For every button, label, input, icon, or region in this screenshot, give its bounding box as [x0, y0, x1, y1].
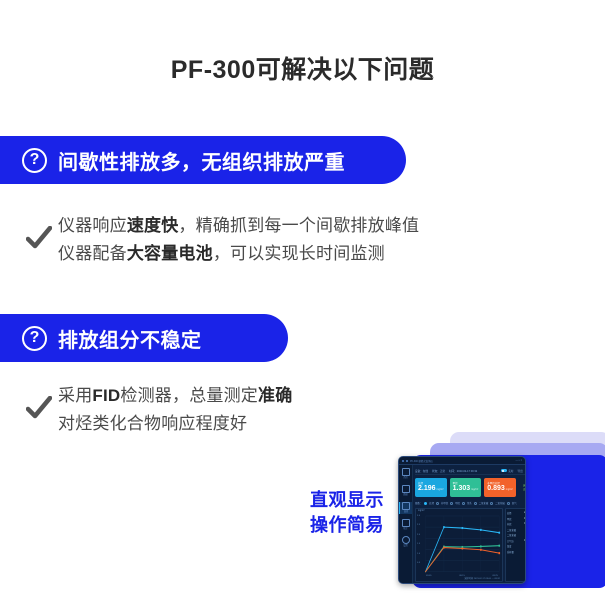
radio-option-6-label[interactable]: 氧气 [512, 501, 517, 505]
export-button[interactable]: 导出 [518, 469, 523, 473]
card-nmhc[interactable]: 非甲烷总烃 0.893mg/m³ [484, 478, 516, 497]
radio-option-1-dot[interactable] [436, 502, 439, 505]
param-value: 23.5 [525, 545, 526, 547]
callout-line-1: 直观显示 [310, 488, 384, 513]
list-item: 二氧化碳1.42 [507, 528, 526, 532]
param-value: 101.3 [524, 540, 526, 542]
card-unit: mg/m³ [471, 488, 478, 491]
topbar-device-status: 设备：在线 [415, 469, 428, 473]
radio-option-2-label[interactable]: 甲烷 [455, 501, 460, 505]
device-main: 设备：在线 状态：正常 时间：2023-02-17 09:32 实时 导出 设置… [413, 465, 526, 584]
radio-option-0-dot[interactable] [424, 502, 427, 505]
device-sidebar: 首页 数据 曲线 统计 [399, 465, 413, 584]
param-name: 二氧化碳 [507, 528, 516, 532]
chart-footer-label: 采样时间 2023-02-17 09:00 — 09:32 [464, 576, 500, 580]
radio-option-1-label[interactable]: 非甲烷 [441, 501, 448, 505]
card-value: 1.303mg/m³ [453, 485, 479, 494]
parameter-radio-row[interactable]: 参数： 总烃 非甲烷 甲烷 苯系 二氧化碳 二氧化硫 [415, 500, 526, 506]
list-item: 非烷0.893 [507, 522, 526, 526]
param-name: 采样量 [507, 550, 514, 554]
y-tick: 2.5 [417, 524, 420, 527]
card-value: 0.893mg/m³ [487, 485, 513, 494]
sidebar-item-stats-label: 统计 [403, 528, 407, 531]
list-item: 采样量0.5 [507, 550, 526, 554]
radio-option-6-dot[interactable] [507, 502, 510, 505]
solution-block-2: 采用FID检测器，总量测定准确 对烃类化合物响应程度好 [26, 382, 292, 438]
param-name: 非烷 [507, 522, 512, 526]
solution-1-lines: 仪器响应速度快，精确抓到每一个间歇排放峰值 仪器配备大容量电池，可以实现长时间监… [58, 212, 419, 268]
list-item: 总烃2.196 [507, 511, 526, 515]
sidebar-item-home[interactable]: 首页 [400, 468, 412, 480]
problem-banner-2-label: 排放组分不稳定 [58, 324, 202, 353]
toggle-switch-icon [501, 469, 507, 472]
gear-icon [402, 536, 410, 544]
radio-row-label: 参数： [415, 501, 422, 505]
realtime-toggle[interactable]: 实时 [501, 469, 513, 473]
device-body: 首页 数据 曲线 统计 [399, 465, 525, 584]
callout-text: 直观显示 操作简易 [310, 488, 384, 538]
radio-option-4-dot[interactable] [474, 502, 477, 505]
home-icon [402, 468, 410, 476]
sidebar-item-curve[interactable]: 曲线 [399, 502, 412, 514]
question-mark-icon: ? [22, 148, 47, 173]
param-value: 0.893 [524, 523, 526, 525]
radio-option-5-label[interactable]: 二氧化硫 [495, 501, 505, 505]
param-value: 2.196 [524, 512, 526, 514]
promo-page: PF-300可解决以下问题 ? 间歇性排放多，无组织排放严重 仪器响应速度快，精… [0, 0, 605, 605]
solution-2-lines: 采用FID检测器，总量测定准确 对烃类化合物响应程度好 [58, 382, 292, 438]
list-item: 甲烷1.303 [507, 517, 526, 521]
card-value: 2.196mg/m³ [418, 485, 444, 494]
chart-icon [402, 502, 410, 510]
radio-option-0-label[interactable]: 总烃 [429, 501, 434, 505]
y-tick: 1.5 [417, 543, 420, 546]
question-mark-icon: ? [22, 326, 47, 351]
titlebar-dot [402, 460, 404, 462]
problem-banner-2[interactable]: ? 排放组分不稳定 [0, 314, 288, 362]
radio-option-2-dot[interactable] [450, 502, 453, 505]
titlebar-dot [406, 460, 408, 462]
x-tick: 09:05 [426, 575, 431, 577]
param-value: 1.303 [524, 518, 526, 520]
check-icon [26, 226, 52, 260]
device-screenshot[interactable]: PF-300 便携式监测仪 — □ × 首页 数据 [398, 456, 526, 584]
list-item: 温度23.5 [507, 544, 526, 548]
param-name: 温度 [507, 544, 512, 548]
solution-1-line-1: 仪器响应速度快，精确抓到每一个间歇排放峰值 [58, 212, 419, 240]
solution-2-line-1: 采用FID检测器，总量测定准确 [58, 382, 292, 410]
list-item: 二氧化硫0.08 [507, 533, 526, 537]
y-tick: 0.5 [417, 562, 420, 565]
y-tick: 1.0 [417, 553, 420, 556]
topbar-state: 状态：正常 [432, 469, 445, 473]
status-line-1: 运行 [523, 484, 526, 487]
problem-banner-1-label: 间歇性排放多，无组织排放严重 [58, 146, 345, 175]
radio-option-3-label[interactable]: 苯系 [467, 501, 472, 505]
grid-icon [402, 485, 410, 493]
param-name: 二氧化硫 [507, 533, 516, 537]
radio-option-5-dot[interactable] [490, 502, 493, 505]
list-item: 大气压101.3 [507, 539, 526, 543]
measurement-cards: 总烃 2.196mg/m³ 甲烷 1.303mg/m³ 非甲烷总烃 0.893m… [415, 478, 526, 497]
solution-block-1: 仪器响应速度快，精确抓到每一个间歇排放峰值 仪器配备大容量电池，可以实现长时间监… [26, 212, 419, 268]
realtime-toggle-label: 实时 [508, 469, 513, 473]
check-icon [26, 396, 52, 430]
device-app-title: PF-300 便携式监测仪 [410, 459, 433, 463]
page-title: PF-300可解决以下问题 [0, 50, 605, 86]
param-name: 总烃 [507, 511, 512, 515]
trend-chart[interactable]: mg/m³ 3.0 2.5 2.0 1.5 1.0 0.5 [415, 508, 503, 582]
sidebar-item-settings[interactable]: 设置 [400, 536, 412, 548]
solution-2-line-2: 对烃类化合物响应程度好 [58, 410, 292, 438]
param-value: 1.42 [525, 529, 526, 531]
window-controls[interactable]: — □ × [515, 459, 522, 462]
card-unit: mg/m³ [506, 488, 513, 491]
topbar-time: 时间：2023-02-17 09:32 [449, 469, 477, 473]
card-methane[interactable]: 甲烷 1.303mg/m³ [450, 478, 482, 497]
y-tick: 2.0 [417, 534, 420, 537]
device-titlebar: PF-300 便携式监测仪 — □ × [399, 457, 525, 465]
sidebar-item-home-label: 首页 [403, 477, 407, 480]
sidebar-item-data-label: 数据 [403, 494, 407, 497]
radio-option-4-label[interactable]: 二氧化碳 [479, 501, 489, 505]
card-total-hydrocarbon[interactable]: 总烃 2.196mg/m³ [415, 478, 447, 497]
chart-wrapper: mg/m³ 3.0 2.5 2.0 1.5 1.0 0.5 [415, 508, 526, 582]
sidebar-item-settings-label: 设置 [403, 545, 407, 548]
sidebar-item-stats[interactable]: 统计 [400, 519, 412, 531]
param-name: 大气压 [507, 539, 514, 543]
param-value: 0.08 [525, 534, 526, 536]
device-topbar: 设备：在线 状态：正常 时间：2023-02-17 09:32 实时 导出 设置 [415, 467, 526, 475]
parameter-list: 总烃2.196 甲烷1.303 非烷0.893 二氧化碳1.42 二氧化硫0.0… [505, 508, 526, 582]
device-panel-stack: PF-300 便携式监测仪 — □ × 首页 数据 [398, 432, 605, 592]
chart-y-axis: 3.0 2.5 2.0 1.5 1.0 0.5 [417, 515, 420, 565]
radio-option-3-dot[interactable] [462, 502, 465, 505]
device-status-badge: 运行 正常 [519, 478, 526, 497]
sidebar-item-data[interactable]: 数据 [400, 485, 412, 497]
status-line-2: 正常 [523, 488, 526, 491]
card-unit: mg/m³ [437, 488, 444, 491]
y-tick: 3.0 [417, 515, 420, 518]
callout-line-2: 操作简易 [310, 513, 384, 538]
param-name: 甲烷 [507, 517, 512, 521]
bars-icon [402, 519, 410, 527]
solution-1-line-2: 仪器配备大容量电池，可以实现长时间监测 [58, 240, 419, 268]
problem-banner-1[interactable]: ? 间歇性排放多，无组织排放严重 [0, 136, 406, 184]
sidebar-item-curve-label: 曲线 [404, 511, 408, 514]
chart-svg [416, 509, 502, 581]
